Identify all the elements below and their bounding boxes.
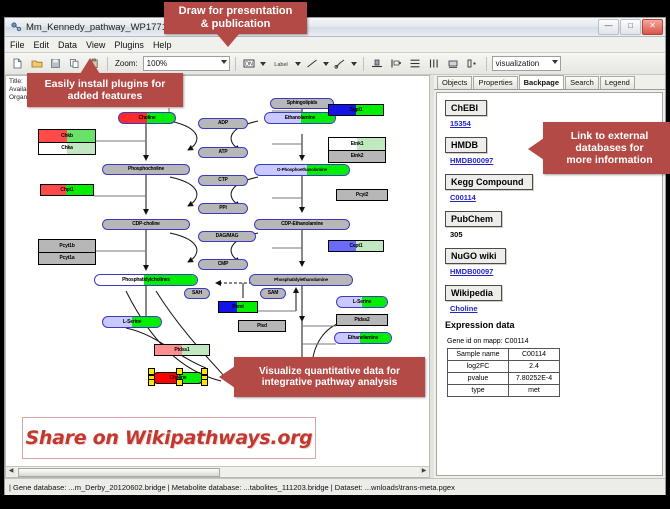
visualization-combo[interactable]: visualization (492, 56, 561, 71)
gene-pcyt2[interactable]: Pcyt2 (336, 189, 388, 201)
gene-etnk1[interactable]: Etnk1 (329, 138, 385, 150)
tool-bar: Zoom: 100% DN Label (5, 53, 665, 75)
share-banner: Share on Wikipathways.org (22, 417, 316, 459)
table-row: Sample name C00114 (448, 349, 560, 361)
node-l-serine-left[interactable]: L-Serine (102, 316, 162, 328)
menu-item-file[interactable]: File (10, 40, 25, 50)
open-folder-icon[interactable] (28, 55, 45, 72)
external-links-callout-arrow (528, 138, 544, 160)
plugins-callout: Easily install plugins for added feature… (27, 73, 183, 107)
pathvisio-icon (10, 21, 22, 33)
resize-handle-n[interactable] (176, 368, 183, 375)
gene-ptdss1[interactable]: Ptdss1 (154, 344, 210, 356)
expression-data-heading: Expression data (445, 320, 662, 330)
stack-center-icon[interactable] (426, 55, 443, 72)
node-phosphocholine[interactable]: Phosphocholine (102, 164, 190, 175)
stack-vertical-icon[interactable] (407, 55, 424, 72)
toolbar-separator-4 (486, 57, 487, 71)
node-cmp[interactable]: CMP (198, 259, 248, 270)
size-equal-icon[interactable] (445, 55, 462, 72)
menu-bar: File Edit Data View Plugins Help (5, 37, 665, 53)
new-document-icon[interactable] (9, 55, 26, 72)
line-icon[interactable] (304, 55, 321, 72)
svg-text:DN: DN (245, 62, 253, 68)
node-sphingolipids[interactable]: Sphingolipids (270, 98, 334, 109)
kegg-header: Kegg Compound (445, 174, 533, 190)
hmdb-header: HMDB (445, 137, 487, 153)
node-o-phosphoethanolamine[interactable]: O-Phosphoethanolamine (254, 164, 350, 176)
visualize-callout-text: Visualize quantitative data for integrat… (259, 366, 400, 389)
table-row: type met (448, 385, 560, 397)
toolbar-separator-2 (235, 57, 236, 71)
close-button[interactable]: ✕ (642, 19, 663, 35)
gene-etnk2[interactable]: Etnk2 (329, 150, 385, 162)
status-text: | Gene database: ...m_Derby_20120602.bri… (9, 483, 455, 492)
draw-callout-text: Draw for presentation & publication (179, 5, 293, 30)
datanode-dropdown[interactable] (260, 57, 267, 70)
node-choline-top[interactable]: Choline (118, 112, 176, 124)
scroll-thumb[interactable] (18, 468, 220, 477)
gene-pcyt1a[interactable]: Pcyt1a (39, 252, 95, 264)
status-bar: | Gene database: ...m_Derby_20120602.bri… (5, 478, 665, 495)
toolbar-separator-3 (363, 57, 364, 71)
nugo-header: NuGO wiki (445, 248, 506, 264)
cell-value-log2fc: 2.4 (509, 361, 560, 373)
label-icon[interactable]: Label (269, 55, 293, 72)
title-bar: Mm_Kennedy_pathway_WP1771_45176.gpml — □… (5, 18, 665, 37)
menu-item-edit[interactable]: Edit (34, 40, 50, 50)
chevron-down-icon (221, 60, 227, 64)
visualize-callout: Visualize quantitative data for integrat… (234, 357, 425, 397)
external-links-callout-text: Link to external databases for more info… (566, 130, 652, 166)
node-cdp-choline[interactable]: CDP-choline (102, 219, 190, 230)
save-disk-icon[interactable] (47, 55, 64, 72)
node-ethanolamine-top[interactable]: Ethanolamine (264, 112, 336, 124)
wikipedia-link[interactable]: Choline (450, 304, 662, 313)
align-left-icon[interactable] (388, 55, 405, 72)
table-row: pvalue 7.80252E-4 (448, 373, 560, 385)
gene-id-line: Gene id on mapp: C00114 (447, 338, 662, 345)
label-dropdown[interactable] (295, 57, 302, 70)
maximize-button[interactable]: □ (620, 19, 641, 35)
interaction-dropdown[interactable] (351, 57, 358, 70)
menu-item-help[interactable]: Help (153, 40, 172, 50)
menu-item-data[interactable]: Data (58, 40, 77, 50)
tab-objects[interactable]: Objects (437, 76, 472, 89)
screenshot-root: Mm_Kennedy_pathway_WP1771_45176.gpml — □… (0, 0, 670, 509)
resize-handle-sw[interactable] (148, 379, 155, 386)
align-top-icon[interactable] (369, 55, 386, 72)
cell-value-sample-name: C00114 (509, 349, 560, 361)
gene-cept1[interactable]: Cept1 (328, 240, 384, 252)
node-adp[interactable]: ADP (198, 118, 248, 129)
cell-value-type: met (509, 385, 560, 397)
menu-item-view[interactable]: View (86, 40, 105, 50)
gene-pemt[interactable]: Pemt (218, 301, 258, 313)
chevron-down-icon (295, 62, 301, 66)
gene-chpt1[interactable]: Chpt1 (40, 184, 94, 196)
selected-choline-group[interactable]: Choline (148, 368, 208, 386)
zoom-value: 100% (147, 59, 167, 68)
draw-callout-arrow (217, 34, 239, 47)
gene-group-pcyt1[interactable]: Pcyt1b Pcyt1a (38, 239, 96, 265)
node-phosphatidylethanolamine[interactable]: Phosphatidylethanolamine (249, 274, 353, 286)
gene-pisd[interactable]: Pisd (238, 320, 286, 332)
node-dag-mag[interactable]: DAG/MAG (198, 231, 256, 242)
plugins-callout-text: Easily install plugins for added feature… (45, 78, 166, 102)
node-ctp[interactable]: CTP (198, 175, 248, 186)
gene-sgpl1[interactable]: Sgpl1 (328, 104, 384, 116)
cell-key-sample-name: Sample name (448, 349, 509, 361)
node-sah[interactable]: SAH (184, 288, 210, 299)
canvas-hscrollbar[interactable]: ◀ ▶ (6, 466, 429, 477)
node-phosphatidylcholines[interactable]: Phosphatidylcholines (94, 274, 198, 286)
pubchem-header: PubChem (445, 211, 502, 227)
share-banner-text: Share on Wikipathways.org (26, 427, 313, 449)
plugins-callout-arrow (80, 58, 100, 74)
external-links-callout: Link to external databases for more info… (543, 122, 670, 174)
tab-backpage[interactable]: Backpage (519, 75, 564, 89)
svg-text:Label: Label (274, 62, 287, 68)
cell-key-type: type (448, 385, 509, 397)
kegg-link[interactable]: C00114 (450, 193, 662, 202)
minimize-button[interactable]: — (598, 19, 619, 35)
interaction-icon[interactable] (332, 55, 349, 72)
node-atp[interactable]: ATP (198, 147, 248, 158)
gene-chka[interactable]: Chka (39, 142, 95, 154)
expression-table: Sample name C00114 log2FC 2.4 pvalue 7.8… (447, 348, 560, 397)
node-sam[interactable]: SAM (260, 288, 286, 299)
node-l-serine-right[interactable]: L-Serine (336, 296, 388, 308)
scroll-right-arrow[interactable]: ▶ (419, 467, 429, 476)
window-controls: — □ ✕ (598, 19, 663, 35)
toolbar-separator-1 (107, 57, 108, 71)
draw-callout: Draw for presentation & publication (164, 2, 307, 34)
zoom-combo[interactable]: 100% (143, 56, 230, 71)
gene-group-etnk[interactable]: Etnk1 Etnk2 (328, 137, 386, 163)
wikipedia-header: Wikipedia (445, 285, 502, 301)
visualization-value: visualization (496, 59, 540, 68)
datanode-icon[interactable]: DN (241, 55, 258, 72)
chevron-down-icon (351, 62, 357, 66)
cell-key-pvalue: pvalue (448, 373, 509, 385)
tab-search[interactable]: Search (565, 76, 599, 89)
tab-properties[interactable]: Properties (473, 76, 517, 89)
menu-item-plugins[interactable]: Plugins (114, 40, 144, 50)
resize-handle-ne[interactable] (201, 368, 208, 375)
nugo-link[interactable]: HMDB00097 (450, 267, 662, 276)
zoom-label: Zoom: (115, 59, 138, 68)
chevron-down-icon (323, 62, 329, 66)
chebi-header: ChEBI (445, 100, 487, 116)
tab-legend[interactable]: Legend (600, 76, 635, 89)
chevron-down-icon (552, 60, 558, 64)
pubchem-value: 305 (450, 230, 662, 239)
table-row: log2FC 2.4 (448, 361, 560, 373)
cell-value-pvalue: 7.80252E-4 (509, 373, 560, 385)
scroll-left-arrow[interactable]: ◀ (6, 467, 16, 476)
node-cdp-ethanolamine[interactable]: CDP-Ethanolamine (254, 219, 350, 230)
gene-chkb[interactable]: Chkb (39, 130, 95, 142)
gene-pcyt1b[interactable]: Pcyt1b (39, 240, 95, 252)
visualize-callout-arrow (219, 366, 235, 388)
chevron-down-icon (260, 62, 266, 66)
gene-group-chk[interactable]: Chkb Chka (38, 129, 96, 155)
cell-key-log2fc: log2FC (448, 361, 509, 373)
resize-handle-se[interactable] (201, 379, 208, 386)
node-ppi[interactable]: PPi (198, 203, 248, 214)
group-icon[interactable] (464, 55, 481, 72)
gene-ptdss2[interactable]: Ptdss2 (336, 314, 388, 326)
resize-handle-nw[interactable] (148, 368, 155, 375)
line-dropdown[interactable] (323, 57, 330, 70)
sidebar-tabs: Objects Properties Backpage Search Legen… (434, 75, 665, 90)
node-ethanolamine-bottom[interactable]: Ethanolamine (334, 332, 392, 344)
